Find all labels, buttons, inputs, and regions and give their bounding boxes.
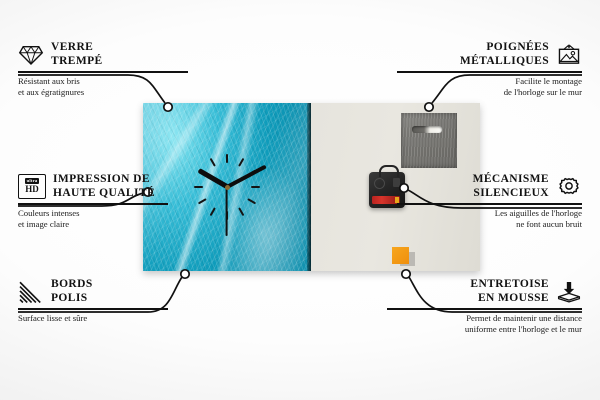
callout-title: IMPRESSION DE HAUTE QUALITÉ: [53, 172, 155, 200]
callout-desc-line1: Surface lisse et sûre: [18, 313, 168, 324]
callout-entretoise-en-mousse: ENTRETOISE EN MOUSSE Permet de maintenir…: [387, 277, 582, 335]
callout-rule: [18, 203, 168, 205]
callout-mecanisme-silencieux: MÉCANISME SILENCIEUX Les aiguilles de l'…: [397, 172, 582, 230]
infographic-canvas: VERRE TREMPÉ Résistant aux bris et aux é…: [0, 0, 600, 400]
ultra-hd-icon: ultra HD: [18, 174, 46, 199]
polished-edge-icon: [18, 280, 44, 303]
callout-header: ENTRETOISE EN MOUSSE: [387, 277, 582, 305]
callout-header: VERRE TREMPÉ: [18, 40, 188, 68]
callout-header: BORDS POLIS: [18, 277, 168, 305]
callout-impression-haute-qualite: ultra HD IMPRESSION DE HAUTE QUALITÉ Cou…: [18, 172, 168, 230]
callout-desc-line1: Permet de maintenir une distance: [387, 313, 582, 324]
picture-hanger-icon: [556, 43, 582, 66]
callout-desc-line1: Résistant aux bris: [18, 76, 188, 87]
callout-title: ENTRETOISE EN MOUSSE: [470, 277, 549, 305]
callout-verre-trempe: VERRE TREMPÉ Résistant aux bris et aux é…: [18, 40, 188, 98]
diamond-icon: [18, 43, 44, 66]
mechanism-dial: [374, 178, 385, 189]
callout-desc-line1: Facilite le montage: [397, 76, 582, 87]
hand-center-cap: [225, 185, 230, 190]
callout-header: ultra HD IMPRESSION DE HAUTE QUALITÉ: [18, 172, 168, 200]
callout-desc-line2: uniforme entre l'horloge et le mur: [387, 324, 582, 335]
connector-dot-bords-polis: [181, 270, 189, 278]
callout-poignees-metalliques: POIGNÉES MÉTALLIQUES Facilite le montage…: [397, 40, 582, 98]
callout-rule: [387, 308, 582, 310]
callout-header: MÉCANISME SILENCIEUX: [397, 172, 582, 200]
callout-desc-line1: Couleurs intenses: [18, 208, 168, 219]
callout-title: VERRE TREMPÉ: [51, 40, 103, 68]
callout-rule: [397, 71, 582, 73]
callout-desc-line1: Les aiguilles de l'horloge: [397, 208, 582, 219]
callout-desc-line2: et image claire: [18, 219, 168, 230]
second-hand: [226, 187, 228, 236]
callout-title: MÉCANISME SILENCIEUX: [473, 172, 549, 200]
callout-rule: [397, 203, 582, 205]
callout-desc-line2: ne font aucun bruit: [397, 219, 582, 230]
clock-face: [143, 103, 311, 271]
callout-rule: [18, 71, 188, 73]
foam-spacer: [392, 247, 409, 264]
hanger-slot: [412, 126, 442, 133]
callout-desc-line2: de l'horloge sur le mur: [397, 87, 582, 98]
ultra-hd-badge-bottom: HD: [25, 185, 39, 194]
callout-title: BORDS POLIS: [51, 277, 93, 305]
callout-bords-polis: BORDS POLIS Surface lisse et sûre: [18, 277, 168, 324]
foam-spacer-icon: [556, 280, 582, 303]
gear-icon: [556, 175, 582, 198]
battery: [372, 196, 400, 204]
callout-header: POIGNÉES MÉTALLIQUES: [397, 40, 582, 68]
callout-desc-line2: et aux égratignures: [18, 87, 188, 98]
callout-rule: [18, 308, 168, 310]
callout-title: POIGNÉES MÉTALLIQUES: [460, 40, 549, 68]
metal-hanger-plate: [401, 113, 457, 168]
mechanism-hanging-loop: [379, 165, 399, 177]
